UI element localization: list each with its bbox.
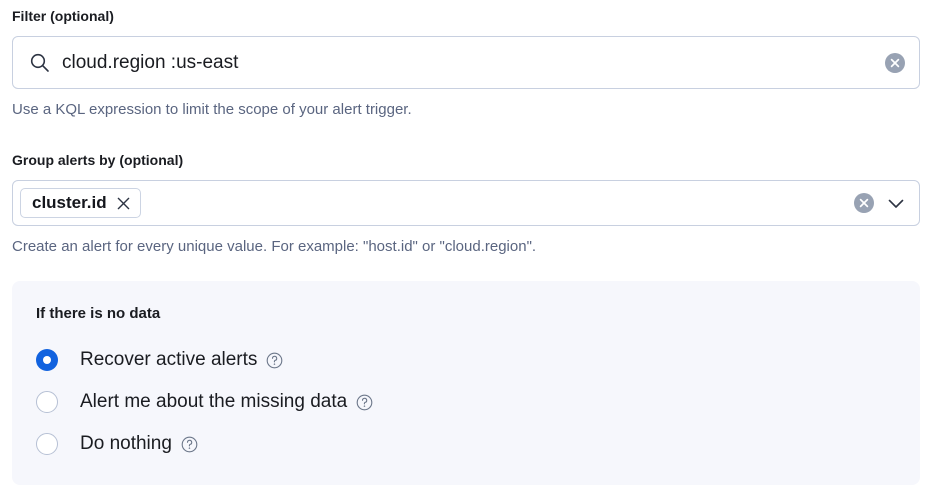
clear-circle-icon[interactable] <box>885 53 905 73</box>
group-alerts-field-group: Group alerts by (optional) cluster.id <box>12 150 920 258</box>
filter-helper-text: Use a KQL expression to limit the scope … <box>12 99 920 121</box>
group-alerts-label: Group alerts by (optional) <box>12 150 920 171</box>
group-alerts-pill-label: cluster.id <box>32 193 107 213</box>
search-icon <box>29 52 50 73</box>
combobox-actions <box>844 192 907 214</box>
radio-option-label[interactable]: Do nothing <box>80 432 172 456</box>
filter-field-group: Filter (optional) cloud.region :us-east … <box>12 6 920 121</box>
filter-label: Filter (optional) <box>12 6 920 27</box>
group-alerts-pill[interactable]: cluster.id <box>20 188 141 218</box>
help-circle-icon[interactable] <box>356 394 373 411</box>
radio-option-do-nothing[interactable]: Do nothing <box>36 423 920 465</box>
radio-option-recover-active-alerts[interactable]: Recover active alerts <box>36 339 920 381</box>
no-data-panel-title: If there is no data <box>36 303 920 325</box>
chevron-down-icon[interactable] <box>885 192 907 214</box>
radio-option-label[interactable]: Alert me about the missing data <box>80 390 347 414</box>
radio-button[interactable] <box>36 433 58 455</box>
help-circle-icon[interactable] <box>181 436 198 453</box>
no-data-panel: If there is no data Recover active alert… <box>12 281 920 485</box>
group-alerts-helper-text: Create an alert for every unique value. … <box>12 236 920 258</box>
filter-value-text: cloud.region :us-east <box>62 51 875 75</box>
no-data-radio-group: Recover active alerts Alert me about the… <box>36 339 920 465</box>
help-circle-icon[interactable] <box>266 352 283 369</box>
clear-circle-icon[interactable] <box>854 193 874 213</box>
close-icon[interactable] <box>116 196 131 211</box>
radio-button[interactable] <box>36 349 58 371</box>
filter-input[interactable]: cloud.region :us-east <box>12 36 920 89</box>
group-alerts-combobox[interactable]: cluster.id <box>12 180 920 226</box>
radio-button[interactable] <box>36 391 58 413</box>
radio-option-alert-me-about-missing-data[interactable]: Alert me about the missing data <box>36 381 920 423</box>
radio-option-label[interactable]: Recover active alerts <box>80 348 257 372</box>
